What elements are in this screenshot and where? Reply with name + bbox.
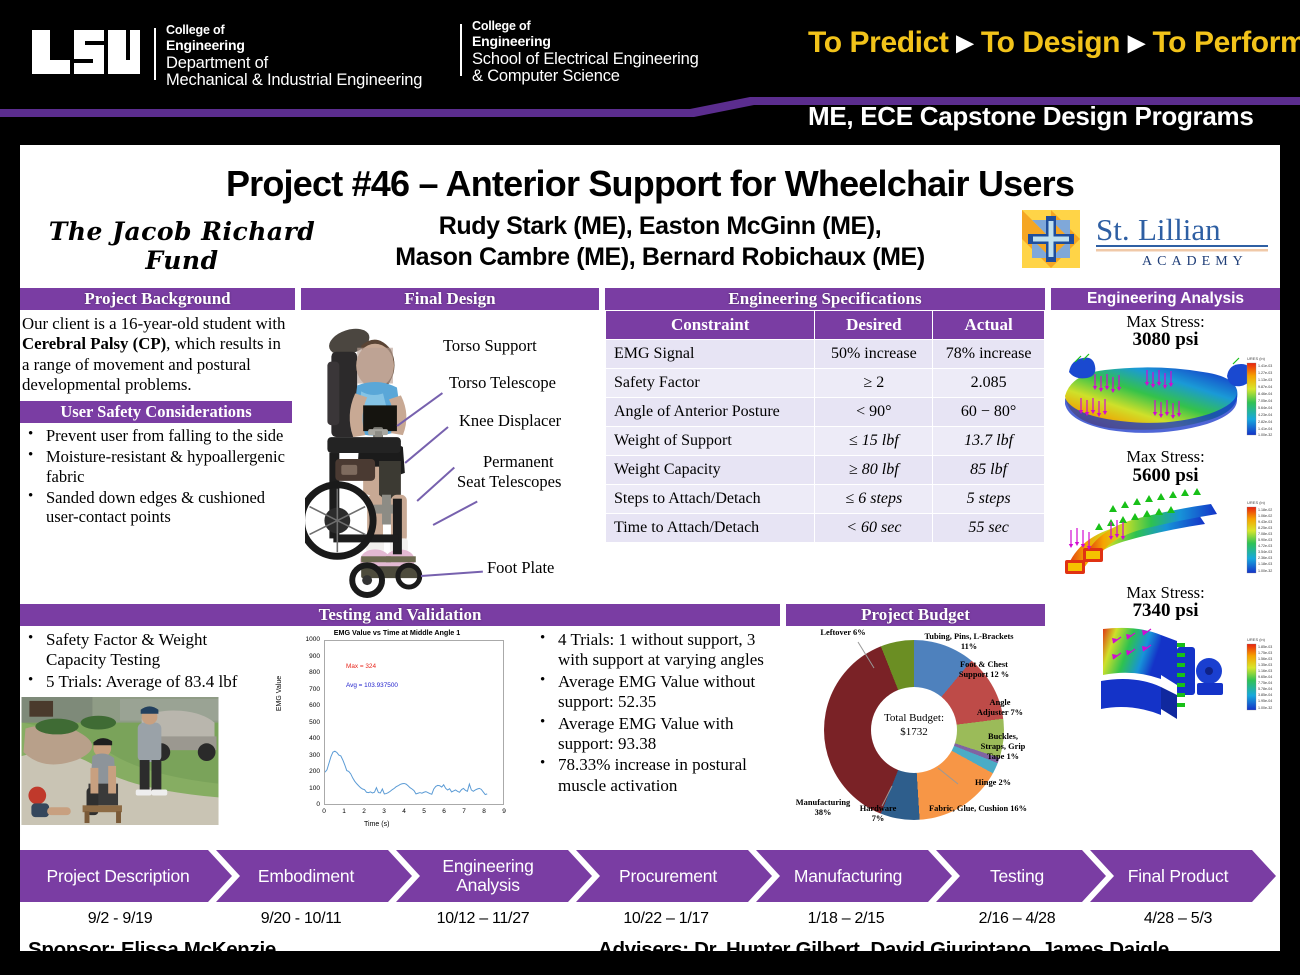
svg-text:1.13e-03: 1.13e-03 (1258, 378, 1272, 382)
cell-desired: ≤ 15 lbf (815, 427, 933, 456)
section-testing-validation: Testing and Validation Safety Factor & W… (20, 604, 780, 841)
timeline-date-6: 2/16 – 4/28 (932, 910, 1102, 928)
budget-label-tubing: Tubing, Pins, L-Brackets11% (904, 632, 1034, 652)
emg-x-tick: 9 (498, 808, 510, 815)
cell-desired: < 60 sec (815, 514, 933, 543)
table-header-row: Constraint Desired Actual (606, 311, 1045, 340)
section-header-budget: Project Budget (786, 604, 1045, 626)
table-row: Weight of Support ≤ 15 lbf 13.7 lbf (606, 427, 1045, 456)
dept1-line3: Department of (166, 55, 422, 73)
timeline-phase-7[interactable]: Final Product (1098, 850, 1258, 902)
section-header-testing: Testing and Validation (20, 604, 780, 626)
budget-label-hinge: Hinge 2% (954, 778, 1032, 788)
st-lillian-academy-logo: St. Lillian ACADEMY (1020, 208, 1270, 270)
cell-actual: 5 steps (933, 485, 1045, 514)
callout-torso-support: Torso Support (443, 336, 537, 356)
tagline-perform: To Perform (1152, 26, 1300, 59)
dept1-line2: Engineering (166, 38, 422, 53)
svg-text:4.72e-03: 4.72e-03 (1258, 544, 1272, 548)
dept1-line4: Mechanical & Industrial Engineering (166, 72, 422, 90)
play-triangle-icon: ▶ (1128, 30, 1145, 55)
emg-y-tick: 100 (294, 785, 320, 792)
svg-text:2.36e-03: 2.36e-03 (1258, 556, 1272, 560)
page-header: College of Engineering Department of Mec… (0, 0, 1300, 142)
table-row: Weight Capacity ≥ 80 lbf 85 lbf (606, 456, 1045, 485)
emg-y-tick: 900 (294, 653, 320, 660)
timeline-date-2: 9/20 - 10/11 (206, 910, 396, 928)
list-item: Average EMG Value with support: 93.38 (534, 714, 780, 755)
fea-result-1: Max Stress: 3080 psi (1051, 313, 1280, 447)
cell-actual: 13.7 lbf (933, 427, 1045, 456)
callout-permanent: Permanent (483, 452, 554, 472)
list-item: Safety Factor & Weight Capacity Testing (22, 630, 270, 671)
emg-y-tick: 600 (294, 702, 320, 709)
th-constraint: Constraint (606, 311, 815, 340)
svg-text:Lillian: Lillian (1138, 212, 1221, 247)
cell-constraint: Angle of Anterior Posture (606, 398, 815, 427)
dept1-line1: College of (166, 24, 422, 38)
emg-x-tick: 8 (478, 808, 490, 815)
emg-max-annotation: Max = 324 (346, 663, 376, 670)
jacob-richard-fund-logo: The Jacob Richard Fund (32, 217, 332, 275)
cell-actual: 55 sec (933, 514, 1045, 543)
timeline-phase-1[interactable]: Project Description (20, 850, 216, 902)
project-timeline: Project Description Embodiment Engineeri… (20, 850, 1280, 902)
emg-y-tick: 200 (294, 768, 320, 775)
emg-y-tick: 800 (294, 669, 320, 676)
section-header-final-design: Final Design (301, 288, 599, 310)
donut-center-label: Total Budget: $1732 (871, 712, 957, 740)
timeline-date-7: 4/28 – 5/3 (1092, 910, 1264, 928)
emg-y-tick: 400 (294, 735, 320, 742)
cell-actual: 85 lbf (933, 456, 1045, 485)
emg-y-tick: 500 (294, 719, 320, 726)
svg-text:3.54e-03: 3.54e-03 (1258, 550, 1272, 554)
svg-text:7.08e-03: 7.08e-03 (1258, 532, 1272, 536)
dept2-line3: School of Electrical Engineering (472, 51, 699, 69)
section-project-background: Project Background Our client is a 16-ye… (20, 288, 295, 528)
timeline-date-5: 1/18 – 2/15 (758, 910, 934, 928)
final-design-diagram: Torso Support Torso Telescope Knee Displ… (301, 310, 599, 598)
svg-text:1.00e-32: 1.00e-32 (1258, 569, 1272, 573)
section-header-analysis: Engineering Analysis (1051, 288, 1280, 310)
tagline: To Predict ▶ To Design ▶ To Perform (808, 26, 1300, 60)
budget-label-angle: AngleAdjuster 7% (958, 698, 1042, 718)
svg-text:4.23e-04: 4.23e-04 (1258, 413, 1272, 417)
cell-desired: ≤ 6 steps (815, 485, 933, 514)
list-item: 5 Trials: Average of 83.4 lbf (22, 672, 270, 692)
svg-text:1.06e-02: 1.06e-02 (1258, 514, 1272, 518)
sponsor-text: Sponsor: Elissa McKenzie (28, 938, 276, 951)
budget-center-line2: $1732 (871, 726, 957, 740)
section-final-design: Final Design (301, 288, 599, 598)
callout-knee-displacer: Knee Displacer (459, 411, 561, 431)
budget-label-leftover: Leftover 6% (808, 628, 878, 638)
fea-legend-title-2: URES (in) (1247, 500, 1266, 505)
svg-text:St.: St. (1096, 212, 1130, 247)
emg-x-tick: 7 (458, 808, 470, 815)
svg-text:8.46e-04: 8.46e-04 (1258, 392, 1272, 396)
cell-actual: 78% increase (933, 340, 1045, 369)
emg-x-axis-label: Time (s) (364, 821, 389, 828)
list-item: Average EMG Value without support: 52.35 (534, 672, 780, 713)
poster-body: Project #46 – Anterior Support for Wheel… (20, 145, 1280, 951)
header-divider-1 (154, 28, 156, 80)
title-area: Project #46 – Anterior Support for Wheel… (20, 145, 1280, 288)
timeline-phase-5[interactable]: Manufacturing (762, 850, 934, 902)
svg-text:1.18e-02: 1.18e-02 (1258, 508, 1272, 512)
dept2-line4: & Computer Science (472, 68, 699, 86)
table-row: Safety Factor ≥ 2 2.085 (606, 369, 1045, 398)
section-header-specs: Engineering Specifications (605, 288, 1045, 310)
svg-text:5.64e-04: 5.64e-04 (1258, 406, 1272, 410)
authors-line-2: Mason Cambre (ME), Bernard Robichaux (ME… (310, 242, 1010, 273)
timeline-phase-3[interactable]: Engineering Analysis (402, 850, 574, 902)
section-engineering-specifications: Engineering Specifications Constraint De… (605, 288, 1045, 543)
table-row: Time to Attach/Detach < 60 sec 55 sec (606, 514, 1045, 543)
emg-y-tick: 0 (294, 801, 320, 808)
budget-label-fabric: Fabric, Glue, Cushion 16% (912, 804, 1044, 814)
svg-text:1.41e-04: 1.41e-04 (1258, 427, 1272, 431)
emg-results-bullet-list: 4 Trials: 1 without support, 3 with supp… (532, 630, 780, 796)
fea-caption-label-3: Max Stress: (1051, 584, 1280, 601)
timeline-date-1: 9/2 - 9/19 (20, 910, 220, 928)
emg-avg-annotation: Avg = 103.937500 (346, 682, 398, 689)
lsu-logo (30, 28, 142, 76)
authors-line-1: Rudy Stark (ME), Easton McGinn (ME), (310, 211, 1010, 242)
play-triangle-icon: ▶ (956, 30, 973, 55)
fea-caption-label-1: Max Stress: (1051, 313, 1280, 330)
cell-desired: ≥ 80 lbf (815, 456, 933, 485)
svg-text:2.82e-04: 2.82e-04 (1258, 420, 1272, 424)
cell-constraint: Weight of Support (606, 427, 815, 456)
section-project-budget: Project Budget Total Budget: $1732 Lefto… (786, 604, 1045, 840)
testing-left-column: Safety Factor & Weight Capacity Testing … (20, 630, 270, 830)
callout-foot-plate: Foot Plate (487, 558, 554, 578)
timeline-phase-2[interactable]: Embodiment (220, 850, 392, 902)
budget-center-line1: Total Budget: (871, 712, 957, 726)
page-title: Project #46 – Anterior Support for Wheel… (20, 163, 1280, 205)
wheelchair-photo (305, 310, 465, 598)
cell-actual: 60 − 80° (933, 398, 1045, 427)
cell-actual: 2.085 (933, 369, 1045, 398)
cell-desired: ≥ 2 (815, 369, 933, 398)
fea-caption-value-1: 3080 psi (1051, 330, 1280, 350)
timeline-date-4: 10/22 – 1/17 (576, 910, 756, 928)
header-divider-2 (460, 24, 462, 76)
emg-x-tick: 0 (318, 808, 330, 815)
svg-text:9.43e-03: 9.43e-03 (1258, 520, 1272, 524)
emg-y-tick: 1000 (294, 636, 320, 643)
capstone-subtitle: ME, ECE Capstone Design Programs (808, 101, 1254, 132)
content-row-2: Testing and Validation Safety Factor & W… (20, 604, 1280, 844)
dept2-line1: College of (472, 20, 699, 34)
callout-seat-telescopes: Seat Telescopes (457, 472, 561, 492)
th-desired: Desired (815, 311, 933, 340)
specs-table: Constraint Desired Actual EMG Signal 50%… (605, 310, 1045, 543)
table-row: Steps to Attach/Detach ≤ 6 steps 5 steps (606, 485, 1045, 514)
fea-image-seat-pan: URES (in) 1.41e-031.27e-031.13e-03 9.87e… (1051, 350, 1280, 442)
testing-bullet-list: Safety Factor & Weight Capacity Testing … (20, 630, 270, 692)
dept2-line2: Engineering (472, 34, 699, 49)
testing-right-column: 4 Trials: 1 without support, 3 with supp… (532, 630, 780, 797)
fea-caption-value-2: 5600 psi (1051, 466, 1280, 486)
tagline-design: To Design (981, 26, 1120, 59)
dept-electrical: College of Engineering School of Electri… (472, 20, 699, 86)
emg-y-tick: 700 (294, 686, 320, 693)
svg-text:5.90e-03: 5.90e-03 (1258, 538, 1272, 542)
list-item: Moisture-resistant & hypoallergenic fabr… (22, 447, 295, 487)
list-item: 4 Trials: 1 without support, 3 with supp… (534, 630, 780, 671)
budget-label-manufacturing: Manufacturing38% (786, 798, 860, 818)
timeline-phase-6[interactable]: Testing (942, 850, 1092, 902)
cell-constraint: Time to Attach/Detach (606, 514, 815, 543)
budget-donut-chart: Total Budget: $1732 Leftover 6% Tubing, … (786, 626, 1045, 840)
bg-text-pre: Our client is a 16-year-old student with (22, 314, 285, 333)
svg-text:7.05e-04: 7.05e-04 (1258, 399, 1272, 403)
fea-image-telescopes: URES (in) 1.18e-021.06e-029.43e-03 8.25e… (1051, 486, 1280, 578)
advisers-text: Advisers: Dr. Hunter Gilbert, David Giur… (598, 938, 1169, 951)
callout-torso-telescope: Torso Telescope (449, 373, 556, 393)
budget-label-foot-chest: Foot & ChestSupport 12 % (928, 660, 1040, 680)
section-header-user-safety: User Safety Considerations (20, 401, 292, 423)
emg-x-tick: 1 (338, 808, 350, 815)
svg-text:ACADEMY: ACADEMY (1142, 254, 1248, 269)
cell-constraint: EMG Signal (606, 340, 815, 369)
tagline-predict: To Predict (808, 26, 948, 59)
table-row: Angle of Anterior Posture < 90° 60 − 80° (606, 398, 1045, 427)
table-row: EMG Signal 50% increase 78% increase (606, 340, 1045, 369)
cell-constraint: Steps to Attach/Detach (606, 485, 815, 514)
testing-photo (20, 697, 220, 825)
emg-x-tick: 2 (358, 808, 370, 815)
svg-text:1.00e-32: 1.00e-32 (1258, 433, 1272, 437)
timeline-date-3: 10/12 – 11/27 (392, 910, 574, 928)
fea-caption-label-2: Max Stress: (1051, 448, 1280, 465)
cell-desired: < 90° (815, 398, 933, 427)
emg-x-tick: 5 (418, 808, 430, 815)
cell-constraint: Safety Factor (606, 369, 815, 398)
budget-label-buckles: Buckles,Straps, GripTape 1% (964, 732, 1042, 762)
section-header-background: Project Background (20, 288, 295, 310)
timeline-phase-4[interactable]: Procurement (582, 850, 754, 902)
emg-x-tick: 4 (398, 808, 410, 815)
content-row-1: Project Background Our client is a 16-ye… (20, 288, 1280, 600)
bg-text-bold: Cerebral Palsy (CP) (22, 334, 166, 353)
svg-text:1.18e-03: 1.18e-03 (1258, 562, 1272, 566)
svg-text:9.87e-04: 9.87e-04 (1258, 385, 1272, 389)
poster-footer: Sponsor: Elissa McKenzie Advisers: Dr. H… (20, 938, 1280, 951)
dept-mechanical: College of Engineering Department of Mec… (166, 24, 422, 90)
cell-desired: 50% increase (815, 340, 933, 369)
fea-legend-title-1: URES (in) (1247, 356, 1266, 361)
list-item: 78.33% increase in postural muscle activ… (534, 755, 780, 796)
th-actual: Actual (933, 311, 1045, 340)
emg-chart: EMG Value vs Time at Middle Angle 1 EMG … (268, 628, 526, 836)
emg-y-axis-label: EMG Value (276, 676, 283, 711)
author-list: Rudy Stark (ME), Easton McGinn (ME), Mas… (310, 211, 1010, 272)
svg-text:1.41e-03: 1.41e-03 (1258, 364, 1272, 368)
cell-constraint: Weight Capacity (606, 456, 815, 485)
emg-x-tick: 6 (438, 808, 450, 815)
emg-y-tick: 300 (294, 752, 320, 759)
timeline-dates: 9/2 - 9/19 9/20 - 10/11 10/12 – 11/27 10… (20, 902, 1280, 938)
fea-result-2: Max Stress: 5600 psi (1051, 448, 1280, 582)
safety-bullet-list: Prevent user from falling to the side Mo… (20, 426, 295, 527)
list-item: Sanded down edges & cushioned user-conta… (22, 488, 295, 528)
svg-text:1.27e-03: 1.27e-03 (1258, 371, 1272, 375)
background-paragraph: Our client is a 16-year-old student with… (20, 310, 295, 395)
list-item: Prevent user from falling to the side (22, 426, 295, 446)
emg-x-tick: 3 (378, 808, 390, 815)
svg-text:8.25e-03: 8.25e-03 (1258, 526, 1272, 530)
